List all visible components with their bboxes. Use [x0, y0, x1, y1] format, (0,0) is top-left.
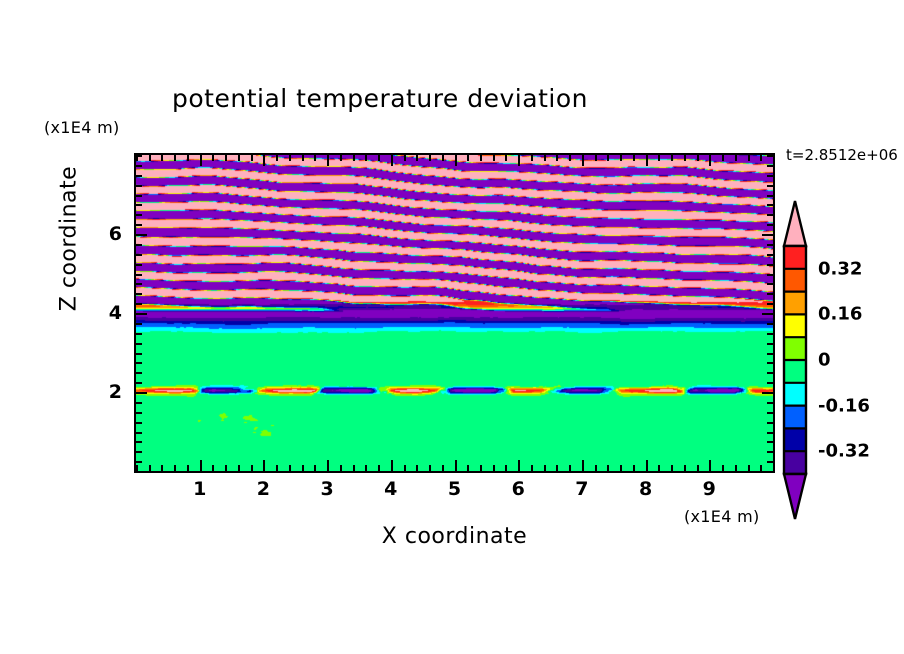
x-axis-tick	[429, 155, 431, 161]
x-axis-tick	[174, 465, 176, 471]
x-axis-tick	[518, 460, 520, 471]
x-axis-tick	[544, 465, 546, 471]
colorbar-tick-label: 0	[818, 350, 831, 371]
y-axis-tick	[136, 313, 147, 315]
x-axis-tick	[161, 155, 163, 161]
x-axis-tick	[302, 155, 304, 161]
x-axis-tick	[633, 155, 635, 161]
y-axis-tick	[136, 244, 142, 246]
y-axis-tick	[136, 432, 142, 434]
y-axis-tick	[767, 362, 773, 364]
y-axis-tick	[767, 382, 773, 384]
x-axis-tick	[276, 465, 278, 471]
colorbar-band	[784, 337, 806, 360]
y-axis-tick	[767, 165, 773, 167]
x-axis-tick	[671, 465, 673, 471]
x-axis-tick	[442, 465, 444, 471]
y-axis-tick	[136, 343, 142, 345]
x-axis-tick	[263, 155, 265, 166]
x-axis-tick	[353, 155, 355, 161]
y-axis-tick	[767, 204, 773, 206]
x-axis-tick	[658, 465, 660, 471]
y-axis-tick	[136, 323, 142, 325]
y-axis-title: Z coordinate	[57, 149, 82, 329]
x-axis-tick	[251, 155, 253, 161]
x-axis-tick	[607, 465, 609, 471]
y-axis-tick	[136, 185, 142, 187]
x-axis-tick	[353, 465, 355, 471]
colorbar-band	[784, 314, 806, 337]
x-axis-tick	[442, 155, 444, 161]
y-axis-tick	[767, 283, 773, 285]
y-axis-tick	[767, 372, 773, 374]
x-axis-tick	[289, 465, 291, 471]
y-axis-tick	[767, 402, 773, 404]
x-axis-tick	[225, 155, 227, 161]
x-axis-tick	[556, 155, 558, 161]
x-axis-tick	[735, 465, 737, 471]
x-axis-tick	[416, 465, 418, 471]
x-axis-tick	[212, 155, 214, 161]
x-axis-tick	[544, 155, 546, 161]
x-axis-tick	[709, 155, 711, 166]
y-axis-tick	[136, 264, 142, 266]
y-axis-tick	[767, 195, 773, 197]
x-axis-tick-label: 7	[575, 478, 588, 500]
scalar-field-image	[136, 155, 773, 471]
y-axis-tick	[136, 254, 142, 256]
y-axis-tick	[136, 392, 147, 394]
x-axis-tick	[251, 465, 253, 471]
y-axis-tick	[767, 471, 773, 473]
x-axis-tick	[620, 465, 622, 471]
x-axis-tick	[327, 155, 329, 166]
y-axis-tick	[136, 422, 142, 424]
x-axis-tick	[480, 155, 482, 161]
x-axis-tick	[709, 460, 711, 471]
y-axis-tick	[767, 343, 773, 345]
x-axis-tick	[391, 460, 393, 471]
y-axis-tick	[136, 362, 142, 364]
x-axis-tick	[773, 465, 775, 471]
page-title: potential temperature deviation	[0, 84, 760, 113]
x-axis-tick	[289, 155, 291, 161]
x-axis-tick	[748, 155, 750, 161]
x-axis-tick	[722, 155, 724, 161]
x-axis-tick	[161, 465, 163, 471]
x-axis-tick	[467, 465, 469, 471]
x-axis-tick	[493, 155, 495, 161]
x-axis-tick	[187, 465, 189, 471]
x-axis-tick	[493, 465, 495, 471]
y-axis-tick	[767, 214, 773, 216]
x-axis-tick	[276, 155, 278, 161]
x-axis-tick	[314, 155, 316, 161]
y-axis-tick	[767, 323, 773, 325]
y-axis-tick	[767, 422, 773, 424]
x-axis-tick	[212, 465, 214, 471]
colorbar-under-arrow	[784, 474, 806, 519]
y-axis-tick	[136, 303, 142, 305]
y-axis-tick	[767, 254, 773, 256]
y-axis-tick	[136, 175, 142, 177]
y-axis-tick	[767, 155, 773, 157]
colorbar-band	[784, 269, 806, 292]
y-axis-tick	[136, 293, 142, 295]
y-axis-tick	[767, 264, 773, 266]
x-axis-tick	[455, 460, 457, 471]
y-axis-tick	[136, 224, 142, 226]
y-axis-tick	[136, 333, 142, 335]
x-axis-tick	[671, 155, 673, 161]
colorbar-band	[784, 428, 806, 451]
y-axis-tick	[767, 185, 773, 187]
colorbar-band	[784, 451, 806, 474]
x-axis-tick	[569, 465, 571, 471]
x-axis-tick-label: 1	[193, 478, 206, 500]
x-axis-tick	[314, 465, 316, 471]
colorbar-band	[784, 292, 806, 315]
y-axis-tick	[136, 382, 142, 384]
x-axis-tick	[748, 465, 750, 471]
x-axis-tick	[582, 155, 584, 166]
y-axis-tick	[136, 353, 142, 355]
colorbar-tick-label: 0.16	[818, 304, 862, 325]
x-axis-tick	[505, 155, 507, 161]
contour-plot-area	[134, 153, 775, 473]
y-axis-unit-label: (x1E4 m)	[44, 118, 120, 137]
x-axis-tick	[467, 155, 469, 161]
x-axis-tick	[518, 155, 520, 166]
x-axis-tick	[582, 460, 584, 471]
colorbar-band	[784, 406, 806, 429]
y-axis-tick	[767, 293, 773, 295]
y-axis-tick	[767, 274, 773, 276]
x-axis-tick	[149, 465, 151, 471]
y-axis-tick	[136, 214, 142, 216]
x-axis-tick	[455, 155, 457, 166]
x-axis-tick	[607, 155, 609, 161]
x-axis-tick	[200, 460, 202, 471]
x-axis-tick	[697, 155, 699, 161]
x-axis-tick	[302, 465, 304, 471]
y-axis-tick	[767, 451, 773, 453]
colorbar-svg	[782, 200, 808, 520]
y-axis-tick	[136, 451, 142, 453]
x-axis-tick	[429, 465, 431, 471]
x-axis-tick	[263, 460, 265, 471]
x-axis-tick	[595, 465, 597, 471]
y-axis-tick	[136, 402, 142, 404]
x-axis-tick	[365, 155, 367, 161]
x-axis-tick	[722, 465, 724, 471]
x-axis-tick	[505, 465, 507, 471]
x-axis-tick	[760, 155, 762, 161]
colorbar-tick-label: -0.16	[818, 395, 870, 416]
y-axis-tick	[762, 313, 773, 315]
y-axis-tick	[136, 441, 142, 443]
x-axis-tick	[149, 155, 151, 161]
x-axis-tick-label: 2	[257, 478, 270, 500]
x-axis-tick	[187, 155, 189, 161]
colorbar-band	[784, 246, 806, 269]
x-axis-tick	[773, 155, 775, 161]
y-axis-tick	[767, 303, 773, 305]
y-axis-tick	[136, 165, 142, 167]
x-axis-tick	[556, 465, 558, 471]
y-axis-tick	[136, 412, 142, 414]
x-axis-tick	[684, 155, 686, 161]
x-axis-tick-label: 5	[448, 478, 461, 500]
x-axis-tick	[404, 155, 406, 161]
y-axis-tick-label: 4	[100, 302, 122, 324]
y-axis-tick	[767, 175, 773, 177]
x-axis-tick	[697, 465, 699, 471]
x-axis-tick	[327, 460, 329, 471]
x-axis-tick	[646, 460, 648, 471]
x-axis-tick	[620, 155, 622, 161]
y-axis-tick	[136, 471, 142, 473]
x-axis-tick	[658, 155, 660, 161]
x-axis-tick	[416, 155, 418, 161]
x-axis-tick	[569, 155, 571, 161]
y-axis-tick	[136, 274, 142, 276]
y-axis-tick	[136, 372, 142, 374]
y-axis-tick	[136, 155, 142, 157]
x-axis-tick	[404, 465, 406, 471]
x-axis-tick-label: 4	[384, 478, 397, 500]
y-axis-tick	[767, 441, 773, 443]
y-axis-tick	[767, 461, 773, 463]
y-axis-tick	[767, 432, 773, 434]
x-axis-tick-label: 6	[512, 478, 525, 500]
y-axis-tick	[767, 224, 773, 226]
y-axis-tick	[762, 392, 773, 394]
x-axis-tick	[378, 465, 380, 471]
x-axis-tick	[238, 155, 240, 161]
x-axis-tick	[531, 155, 533, 161]
x-axis-tick	[633, 465, 635, 471]
timestamp-annotation: t=2.8512e+06	[786, 146, 898, 164]
colorbar-band	[784, 383, 806, 406]
x-axis-tick	[760, 465, 762, 471]
x-axis-tick	[531, 465, 533, 471]
y-axis-tick	[767, 353, 773, 355]
y-axis-tick	[136, 234, 147, 236]
y-axis-tick	[767, 333, 773, 335]
y-axis-tick	[136, 283, 142, 285]
y-axis-tick-label: 6	[100, 223, 122, 245]
colorbar	[782, 200, 808, 520]
x-axis-tick	[365, 465, 367, 471]
y-axis-tick-label: 2	[100, 381, 122, 403]
colorbar-tick-label: 0.32	[818, 258, 862, 279]
colorbar-band	[784, 360, 806, 383]
x-axis-tick	[735, 155, 737, 161]
x-axis-tick	[340, 465, 342, 471]
x-axis-tick	[391, 155, 393, 166]
y-axis-tick	[136, 461, 142, 463]
figure-canvas: potential temperature deviation (x1E4 m)…	[0, 0, 904, 654]
x-axis-tick	[646, 155, 648, 166]
x-axis-tick	[200, 155, 202, 166]
x-axis-tick	[595, 155, 597, 161]
x-axis-tick	[378, 155, 380, 161]
x-axis-tick	[174, 155, 176, 161]
y-axis-tick	[136, 195, 142, 197]
y-axis-tick	[762, 234, 773, 236]
colorbar-over-arrow	[784, 201, 806, 246]
x-axis-tick	[340, 155, 342, 161]
x-axis-title: X coordinate	[134, 524, 775, 549]
colorbar-tick-label: -0.32	[818, 441, 870, 462]
x-axis-tick	[225, 465, 227, 471]
x-axis-tick	[238, 465, 240, 471]
x-axis-tick-label: 8	[639, 478, 652, 500]
y-axis-tick	[136, 204, 142, 206]
y-axis-tick	[767, 412, 773, 414]
x-axis-tick	[480, 465, 482, 471]
x-axis-tick	[684, 465, 686, 471]
y-axis-tick	[767, 244, 773, 246]
x-axis-tick-label: 9	[703, 478, 716, 500]
x-axis-tick-label: 3	[320, 478, 333, 500]
